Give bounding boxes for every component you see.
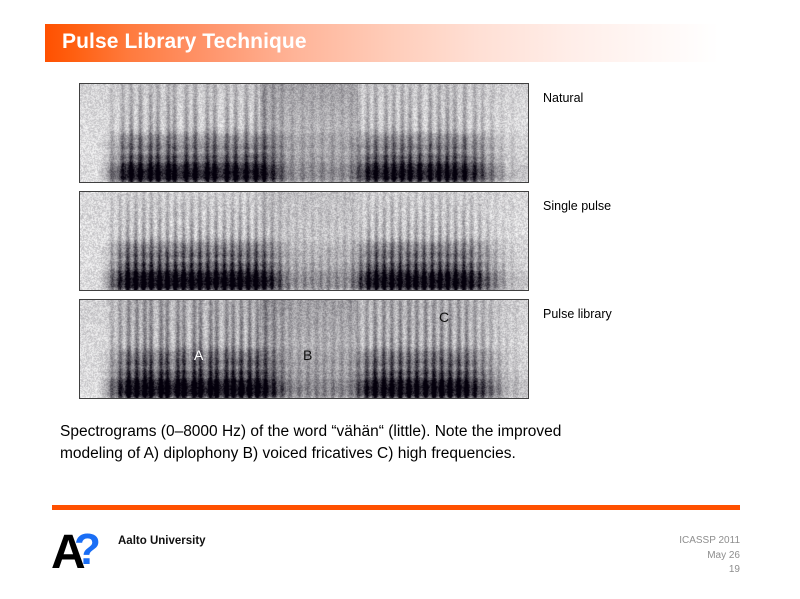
svg-text:?: ? xyxy=(74,525,101,570)
spectrogram-natural-image xyxy=(80,84,528,182)
spectrogram-single-pulse-image xyxy=(80,192,528,290)
figure-caption-line-1: Spectrograms (0–8000 Hz) of the word “vä… xyxy=(60,421,750,443)
spectrogram-label-natural: Natural xyxy=(543,91,583,105)
spectrogram-single-pulse xyxy=(79,191,529,291)
figure-caption-line-2: modeling of A) diplophony B) voiced fric… xyxy=(60,443,750,465)
aalto-logo: A ? xyxy=(52,524,108,570)
footer-page-number: 19 xyxy=(679,563,740,578)
footer-date: May 26 xyxy=(679,549,740,564)
spectrogram-natural xyxy=(79,83,529,183)
figure-caption: Spectrograms (0–8000 Hz) of the word “vä… xyxy=(60,421,750,465)
spectrogram-label-pulse-library: Pulse library xyxy=(543,307,612,321)
page-title: Pulse Library Technique xyxy=(62,30,307,54)
slide-title-bar: Pulse Library Technique xyxy=(45,24,740,62)
footer-conference: ICASSP 2011 xyxy=(679,534,740,549)
footer-metadata: ICASSP 2011 May 26 19 xyxy=(679,534,740,578)
aalto-logo-icon: A ? xyxy=(52,524,108,570)
spectrogram-label-single-pulse: Single pulse xyxy=(543,199,611,213)
slide-canvas: Pulse Library Technique Natural Single p… xyxy=(0,0,800,599)
spectrogram-pulse-library xyxy=(79,299,529,399)
footer-organization: Aalto University xyxy=(118,535,206,547)
footer-divider-rule xyxy=(52,505,740,510)
spectrogram-pulse-library-image xyxy=(80,300,528,398)
